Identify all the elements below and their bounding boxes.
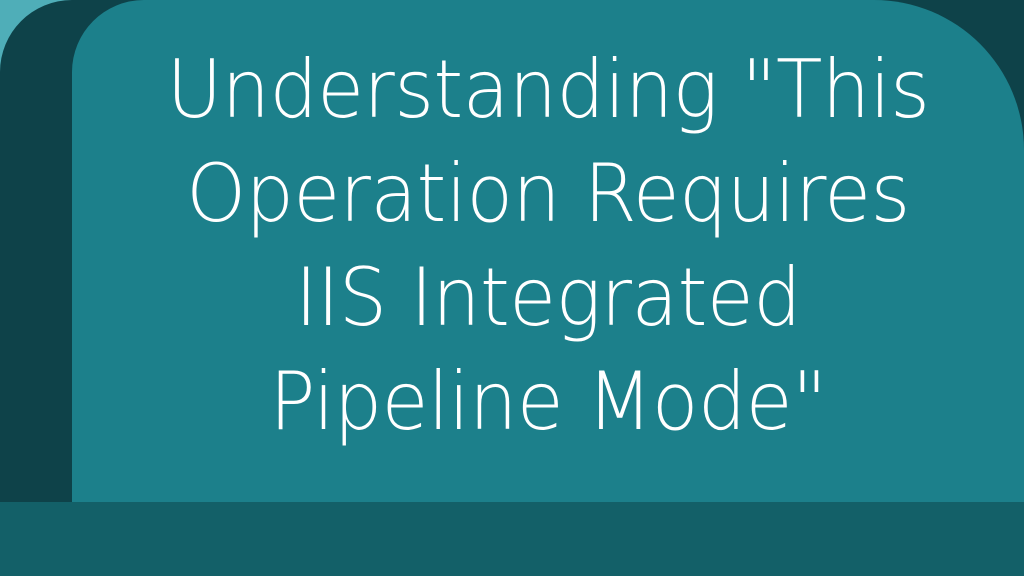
dark-teal-left-column <box>0 0 72 502</box>
main-content-panel: Understanding "This Operation Requires I… <box>72 0 1024 502</box>
title-line-2: Operation Requires <box>109 142 987 246</box>
title-slide: Understanding "This Operation Requires I… <box>0 0 1024 576</box>
title-line-3: IIS Integrated <box>109 246 987 350</box>
slide-title: Understanding "This Operation Requires I… <box>72 38 1024 464</box>
bottom-accent-band <box>0 502 1024 576</box>
title-line-1: Understanding "This <box>109 38 987 142</box>
title-line-4: Pipeline Mode" <box>109 350 987 454</box>
